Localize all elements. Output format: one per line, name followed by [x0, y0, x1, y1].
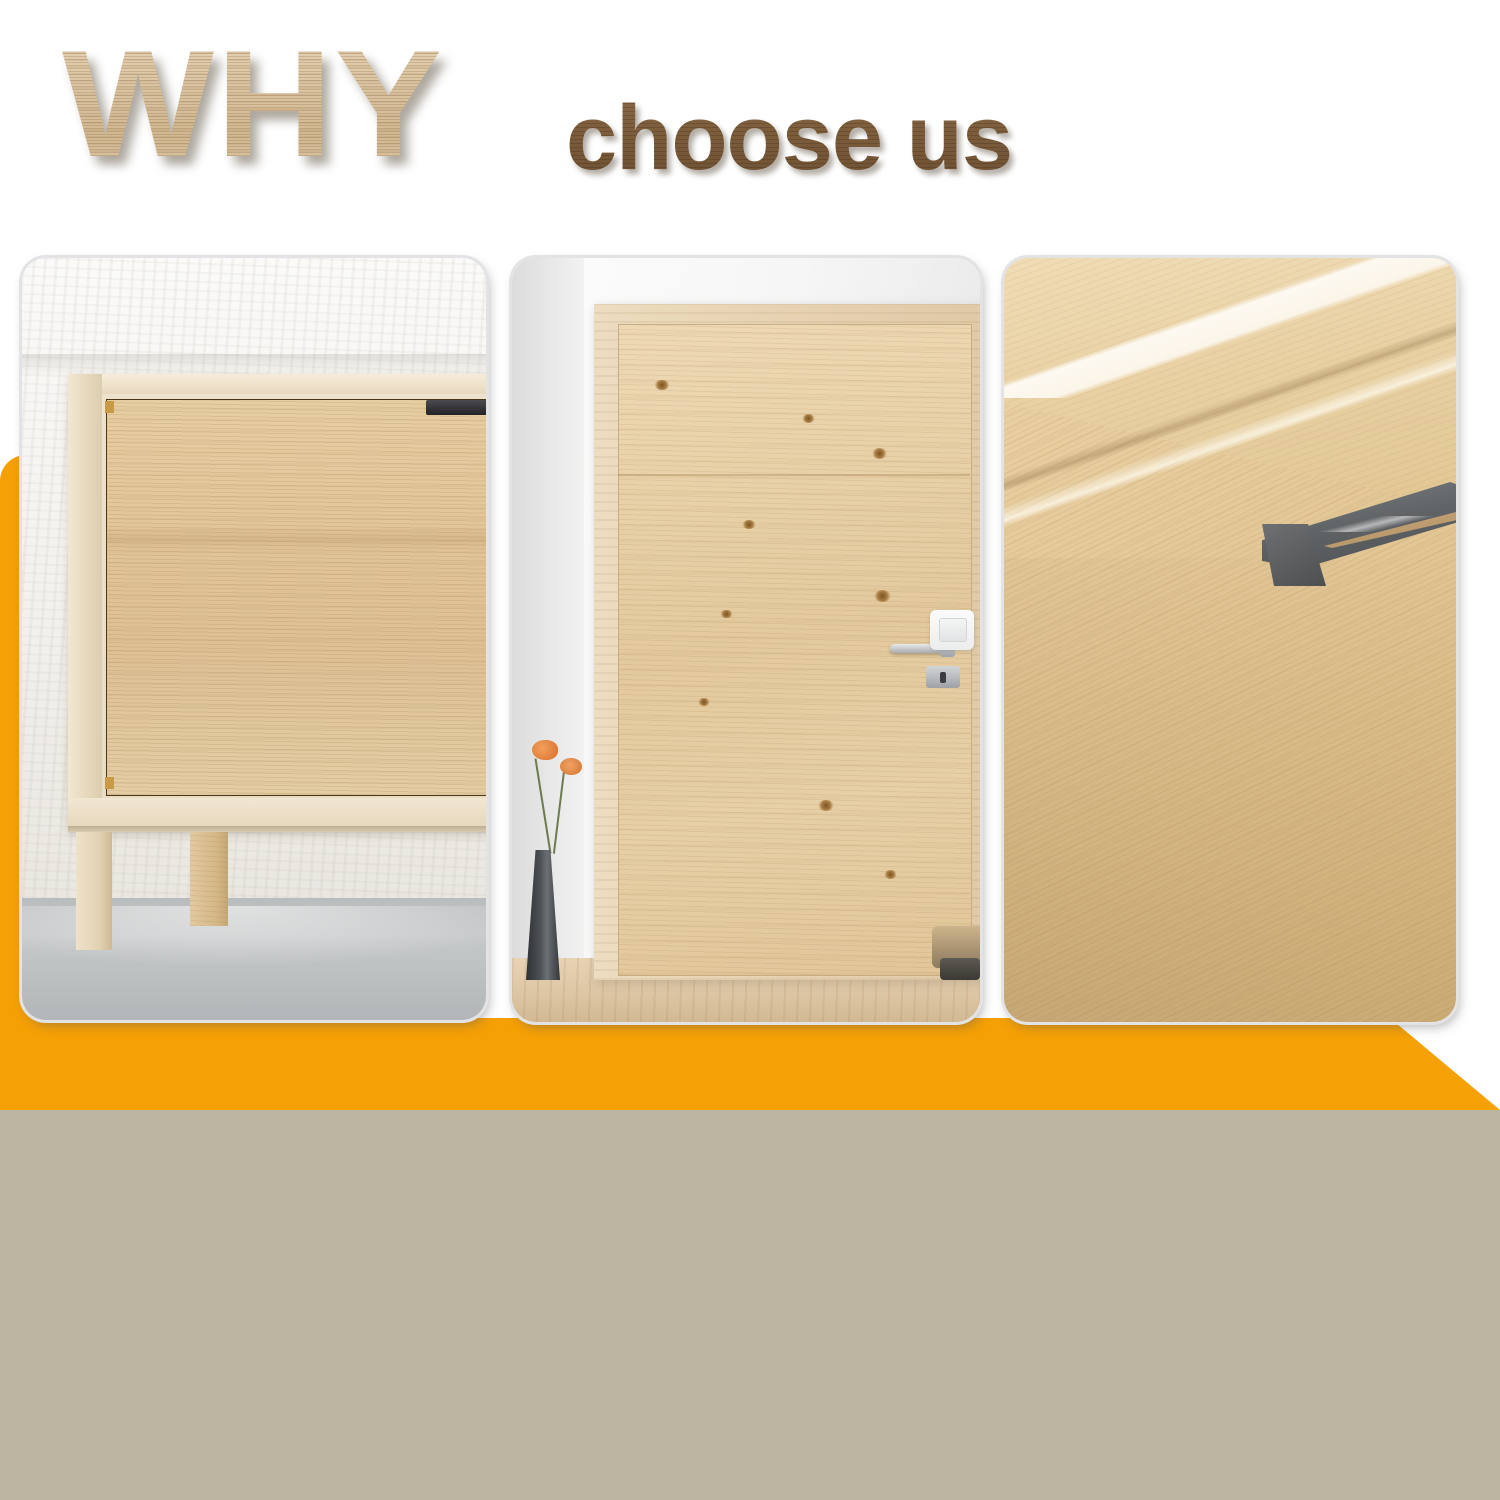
wood-knot	[874, 590, 891, 602]
photo-cabinet-scene	[22, 258, 486, 1020]
wood-knot	[742, 520, 756, 529]
wood-knot	[872, 448, 887, 459]
wall-shadow	[22, 354, 486, 376]
header: WHY choose us	[0, 0, 1500, 250]
cabinet-bar-handle	[426, 400, 486, 415]
wood-knot	[720, 610, 733, 618]
cabinet-flap-panel	[106, 399, 486, 796]
wood-knot	[698, 698, 710, 706]
orange-accent-bottom-bar	[0, 1018, 1500, 1110]
cabinet-hinge-top	[105, 401, 114, 413]
photo-drawer-scene	[1004, 258, 1456, 1022]
gallery-photo-drawer-handle[interactable]	[1004, 258, 1456, 1022]
stool-shadow-object	[940, 958, 980, 980]
cabinet-leg-middle	[190, 832, 228, 926]
features-footer	[0, 1110, 1500, 1500]
gallery-photo-cabinet[interactable]	[22, 258, 486, 1020]
cabinet-left-stile	[68, 374, 102, 832]
wood-knot	[654, 380, 670, 390]
gallery-photo-door[interactable]	[512, 258, 980, 1022]
wood-knot	[884, 870, 897, 879]
light-switch-rocker	[939, 618, 967, 642]
wood-knot	[802, 414, 815, 423]
wood-knot	[818, 800, 834, 811]
orange-flower	[532, 740, 558, 760]
door-panel-seam	[618, 474, 970, 476]
page-title-secondary: choose us	[566, 92, 1012, 184]
page-title-primary: WHY	[62, 28, 444, 180]
cabinet-hinge-bottom	[105, 777, 114, 789]
photo-door-scene	[512, 258, 980, 1022]
why-choose-us-infographic: WHY choose us	[0, 0, 1500, 1500]
panel-grain-band	[106, 526, 486, 552]
handle-specular-highlight	[1268, 516, 1456, 532]
cabinet-under-shadow	[68, 826, 486, 834]
orange-flower	[560, 758, 582, 775]
cabinet-leg-left	[76, 832, 112, 950]
drawer-vignette	[1004, 558, 1456, 1022]
door-keyhole	[940, 672, 946, 683]
cabinet-top	[68, 374, 486, 394]
